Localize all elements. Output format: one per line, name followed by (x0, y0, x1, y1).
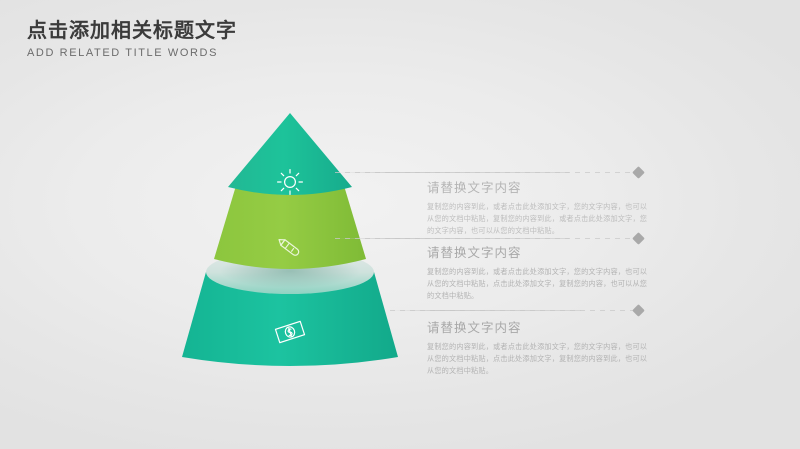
block-body: 复制您的内容到此，或者点击此处添加文字，您的文字内容，也可以从您的文档中粘贴，复… (427, 201, 652, 237)
slide-header: 点击添加相关标题文字 ADD RELATED TITLE WORDS (27, 20, 237, 59)
content-block-2: 请替换文字内容 复制您的内容到此，或者点击此处添加文字，您的文字内容，也可以从您… (427, 245, 652, 302)
connector-marker-1 (632, 166, 645, 179)
block-body: 复制您的内容到此，或者点击此处添加文字，您的文字内容，也可以从您的文档中粘贴，点… (427, 341, 652, 377)
connector-line-1 (335, 172, 635, 173)
block-heading: 请替换文字内容 (427, 245, 652, 261)
page-title: 点击添加相关标题文字 (27, 20, 237, 43)
slide-canvas: 点击添加相关标题文字 ADD RELATED TITLE WORDS (0, 0, 800, 449)
pyramid-tier-top (228, 113, 352, 195)
pyramid-diagram (170, 95, 410, 385)
block-heading: 请替换文字内容 (427, 180, 652, 196)
content-block-3: 请替换文字内容 复制您的内容到此，或者点击此处添加文字，您的文字内容，也可以从您… (427, 320, 652, 377)
block-body: 复制您的内容到此，或者点击此处添加文字，您的文字内容，也可以从您的文档中粘贴，点… (427, 266, 652, 302)
connector-marker-3 (632, 304, 645, 317)
page-subtitle: ADD RELATED TITLE WORDS (27, 47, 237, 59)
content-block-1: 请替换文字内容 复制您的内容到此，或者点击此处添加文字，您的文字内容，也可以从您… (427, 180, 652, 237)
connector-line-2 (335, 238, 635, 239)
connector-line-3 (390, 310, 635, 311)
block-heading: 请替换文字内容 (427, 320, 652, 336)
